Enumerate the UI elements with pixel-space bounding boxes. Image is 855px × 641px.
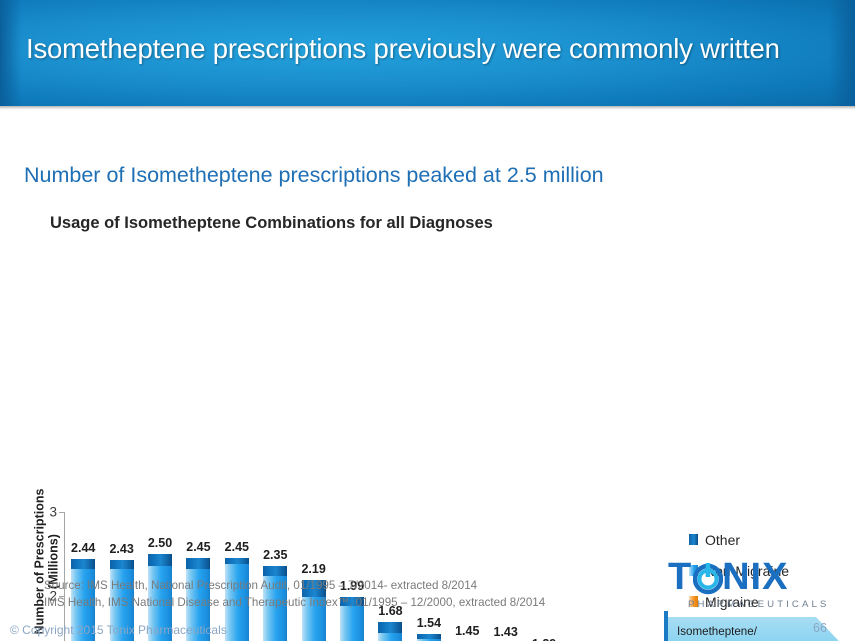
bar-column-2005: 1.452005: [448, 512, 486, 641]
legend-item-other: Other: [689, 529, 789, 550]
legend-swatch-other-icon: [689, 534, 698, 545]
bar-segment-other-1996: [110, 560, 134, 569]
bar-segment-other-1997: [148, 554, 172, 566]
banner-shadow: [0, 106, 855, 111]
bar-value-label-1997: 2.50: [148, 536, 172, 550]
tonix-logo-wordmark: TONIX: [668, 558, 840, 598]
chart-title: Usage of Isometheptene Combinations for …: [50, 214, 493, 233]
bar-column-2003: 1.682003: [371, 512, 409, 641]
tonix-logo-tagline: PHARMACEUTICALS: [688, 599, 829, 610]
y-tick-3: 3: [49, 505, 57, 520]
bar-segment-non-migraine-2003: [378, 633, 402, 641]
bar-value-label-2000: 2.35: [263, 548, 287, 562]
bar-segment-other-1998: [186, 558, 210, 569]
page-title: Isometheptene prescriptions previously w…: [26, 33, 780, 65]
bar-value-label-1998: 2.45: [186, 540, 210, 554]
bar-column-1996: 2.431996: [102, 512, 140, 641]
bar-column-2008: 1.062008: [563, 512, 601, 641]
logo-letters-nix: NIX: [722, 556, 788, 598]
bar-value-label-1996: 2.43: [109, 542, 133, 556]
bar-column-2002: 1.992002: [333, 512, 371, 641]
bar-column-2006: 1.432006: [486, 512, 524, 641]
title-banner: Isometheptene prescriptions previously w…: [0, 0, 855, 106]
source-line-2: IMS Health, IMS National Disease and The…: [44, 595, 545, 612]
bar-segment-other-2003: [378, 622, 402, 632]
bar-value-label-2007: 1.29: [532, 637, 556, 641]
bar-value-label-2004: 1.54: [417, 616, 441, 630]
bar-value-label-2006: 1.43: [494, 625, 518, 639]
power-button-icon: [693, 562, 723, 595]
source-line-1: Source: IMS Health, National Prescriptio…: [44, 578, 545, 595]
bar-column-2007: 1.292007: [525, 512, 563, 641]
legend-label-other: Other: [705, 532, 740, 548]
bar-column-2004: 1.542004: [410, 512, 448, 641]
bar-value-label-1995: 2.44: [71, 541, 95, 555]
bar-value-label-1999: 2.45: [225, 540, 249, 554]
slide: Isometheptene prescriptions previously w…: [0, 0, 855, 641]
logo-letter-t: T: [668, 556, 692, 598]
y-axis-label: Number of Prescriptions (Millions): [34, 467, 61, 641]
bar-column-2009: 1.082009: [602, 512, 640, 641]
bar-segment-other-1995: [71, 559, 95, 569]
bar-column-2001: 2.192001: [294, 512, 332, 641]
bar-value-label-2005: 1.45: [455, 624, 479, 638]
tonix-logo: TONIX PHARMACEUTICALS: [668, 558, 840, 614]
copyright-text: © Copyright 2015 Tonix Pharmaceuticals: [10, 623, 227, 637]
bar-value-label-2001: 2.19: [301, 562, 325, 576]
banner-left-vignette: [0, 0, 22, 106]
slide-subtitle: Number of Isometheptene prescriptions pe…: [24, 163, 604, 188]
banner-right-vignette: [829, 0, 855, 106]
bar-chart: Number of Prescriptions (Millions) 0123 …: [0, 248, 855, 540]
stacked-bar-2004[interactable]: 1.54: [417, 634, 441, 641]
page-number: 66: [813, 621, 827, 635]
source-note: Source: IMS Health, National Prescriptio…: [44, 578, 545, 612]
bar-column-2000: 2.352000: [256, 512, 294, 641]
bar-column-1999: 2.451999: [218, 512, 256, 641]
stacked-bar-2003[interactable]: 1.68: [378, 622, 402, 641]
bar-segment-other-2000: [263, 566, 287, 576]
bar-column-1995: 2.441995: [64, 512, 102, 641]
bar-column-1998: 2.451998: [179, 512, 217, 641]
callout-line-1: Isometheptene/: [677, 625, 757, 638]
bar-column-1997: 2.501997: [141, 512, 179, 641]
y-axis-label-line1: Number of Prescriptions: [33, 489, 47, 635]
